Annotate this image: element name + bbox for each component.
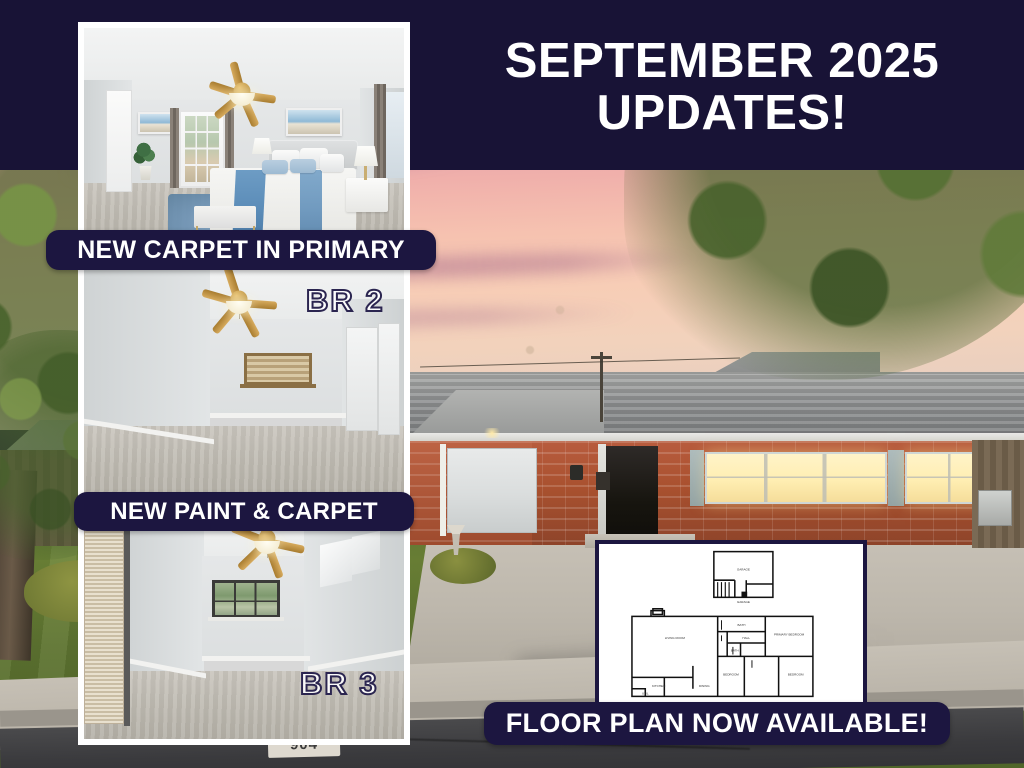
- room-label-br3: BR 3: [300, 666, 379, 702]
- porch-sconce: [570, 465, 583, 480]
- front-entry-recess: [606, 446, 658, 540]
- curtain-left: [170, 108, 179, 188]
- wall-art-large: [286, 108, 342, 136]
- nightstand-right: [346, 178, 388, 212]
- porch-post: [598, 444, 606, 540]
- svg-text:HALL: HALL: [742, 636, 750, 640]
- marketing-flyer: 904 SEPTEMBER 2025 UPDATES!: [0, 0, 1024, 768]
- bedroom-window: [244, 353, 312, 385]
- title-line-1: SEPTEMBER 2025: [505, 36, 940, 88]
- window-sill: [208, 617, 284, 621]
- bedroom-2-photo: BR 2: [84, 261, 404, 503]
- floor-plan-drawing: GARAGE GARAGE LIVING ROOM PRIMARY BEDROO…: [599, 544, 863, 704]
- closet-door: [378, 323, 400, 435]
- primary-bedroom-photo: [84, 28, 404, 255]
- svg-text:BATH: BATH: [731, 649, 739, 653]
- sunlight-patch: [352, 531, 380, 575]
- svg-text:BEDROOM: BEDROOM: [723, 672, 739, 676]
- closet-door: [346, 327, 378, 431]
- photo-collage-column: BR 2: [78, 22, 410, 745]
- svg-text:KITCHEN: KITCHEN: [652, 684, 665, 688]
- svg-text:GARAGE: GARAGE: [737, 568, 750, 572]
- garage-door-trim: [440, 444, 446, 536]
- carpet-floor: [84, 426, 404, 502]
- bedroom-3-photo: BR 3: [84, 508, 404, 739]
- bed-pillow: [320, 154, 344, 172]
- window-shutter: [890, 450, 904, 506]
- ceiling-fan: [202, 76, 282, 106]
- window-shutter: [690, 450, 704, 506]
- svg-text:BEDROOM: BEDROOM: [788, 672, 804, 676]
- banner-new-carpet-primary: NEW CARPET IN PRIMARY: [46, 230, 436, 270]
- lamp-base-right: [364, 166, 367, 180]
- accent-pillow: [262, 160, 288, 174]
- svg-text:PRIMARY BEDROOM: PRIMARY BEDROOM: [774, 632, 805, 636]
- svg-text:GARAGE: GARAGE: [737, 600, 750, 604]
- closet-door-jamb: [124, 510, 130, 726]
- svg-text:DINING: DINING: [699, 684, 710, 688]
- title-line-2: UPDATES!: [597, 88, 848, 140]
- accent-pillow: [290, 159, 316, 173]
- lamp-shade-left: [252, 138, 272, 154]
- baseboard-back: [202, 656, 310, 661]
- window-grid: [215, 583, 277, 615]
- lamp-shade-right: [354, 146, 378, 166]
- front-window-left: [705, 452, 887, 504]
- address-plaque: [596, 472, 610, 490]
- ac-condenser: [978, 490, 1012, 526]
- carpet-texture: [84, 426, 404, 502]
- banner-new-paint-carpet: NEW PAINT & CARPET: [74, 492, 414, 531]
- svg-text:BATH: BATH: [738, 623, 746, 627]
- garage-door: [447, 448, 537, 533]
- window-grid: [707, 454, 885, 502]
- window-sill: [240, 384, 316, 388]
- svg-text:LIVING ROOM: LIVING ROOM: [665, 636, 686, 640]
- room-label-br2: BR 2: [306, 283, 385, 319]
- baseboard-back: [210, 413, 350, 418]
- side-window: [386, 92, 404, 178]
- front-shrub: [430, 548, 496, 584]
- floor-plan-inset[interactable]: GARAGE GARAGE LIVING ROOM PRIMARY BEDROO…: [595, 540, 867, 708]
- bedroom-window: [212, 580, 280, 618]
- wall-art-small: [138, 112, 172, 134]
- foot-bench: [194, 206, 256, 228]
- curtain-right-window: [374, 84, 386, 188]
- potted-plant: [132, 140, 158, 168]
- ceiling-fan: [196, 283, 282, 315]
- sunlight-patch: [320, 539, 352, 588]
- page-title: SEPTEMBER 2025 UPDATES!: [420, 0, 1024, 170]
- bare-tree: [440, 230, 640, 430]
- hallway-door: [106, 90, 132, 192]
- svg-text:UTIL: UTIL: [642, 691, 649, 695]
- louvered-closet-doors: [84, 512, 124, 724]
- banner-floor-plan: FLOOR PLAN NOW AVAILABLE!: [484, 702, 950, 745]
